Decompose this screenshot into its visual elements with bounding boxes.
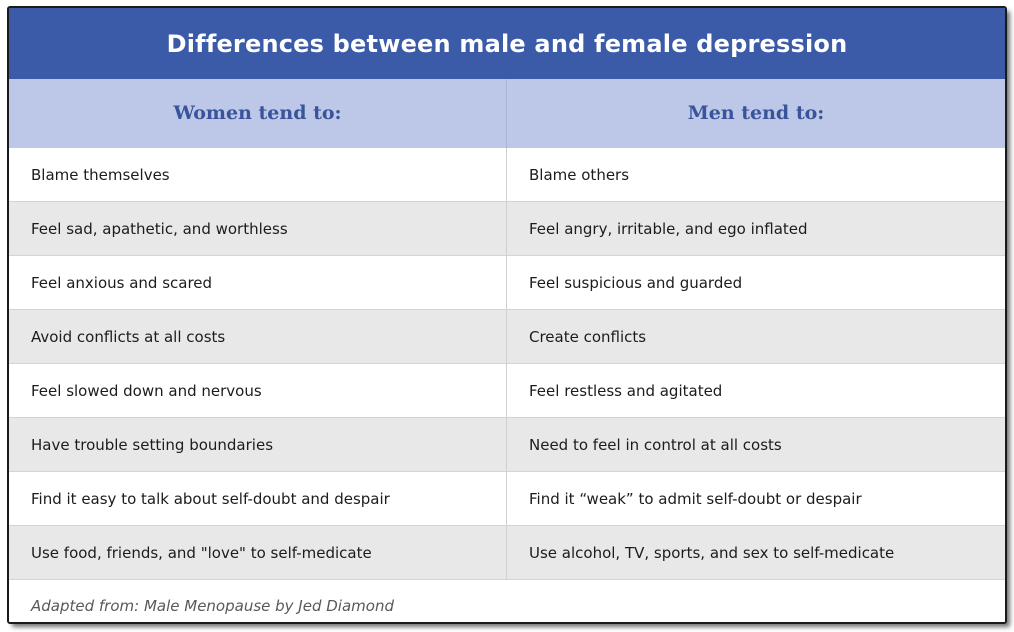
table-row: Find it easy to talk about self-doubt an… bbox=[9, 472, 1005, 526]
cell-women: Feel slowed down and nervous bbox=[9, 364, 507, 417]
cell-women-text: Feel anxious and scared bbox=[31, 274, 212, 292]
cell-women: Feel sad, apathetic, and worthless bbox=[9, 202, 507, 255]
attribution-row: Adapted from: Male Menopause by Jed Diam… bbox=[9, 580, 1005, 624]
cell-men-text: Feel angry, irritable, and ego inflated bbox=[529, 220, 808, 238]
table-title-bar: Differences between male and female depr… bbox=[9, 8, 1005, 79]
column-header-row: Women tend to: Men tend to: bbox=[9, 79, 1005, 148]
table-row: Feel sad, apathetic, and worthless Feel … bbox=[9, 202, 1005, 256]
cell-men-text: Need to feel in control at all costs bbox=[529, 436, 782, 454]
cell-women-text: Avoid conflicts at all costs bbox=[31, 328, 225, 346]
cell-men: Feel restless and agitated bbox=[507, 364, 1005, 417]
column-header-men-label: Men tend to: bbox=[688, 104, 825, 123]
column-header-women-label: Women tend to: bbox=[173, 104, 341, 123]
cell-men: Use alcohol, TV, sports, and sex to self… bbox=[507, 526, 1005, 579]
cell-men: Feel suspicious and guarded bbox=[507, 256, 1005, 309]
column-header-women: Women tend to: bbox=[9, 79, 507, 148]
cell-men-text: Create conflicts bbox=[529, 328, 646, 346]
page-title: Differences between male and female depr… bbox=[167, 32, 848, 56]
cell-men-text: Feel suspicious and guarded bbox=[529, 274, 742, 292]
comparison-table-card: Differences between male and female depr… bbox=[7, 6, 1007, 624]
table-row: Feel anxious and scared Feel suspicious … bbox=[9, 256, 1005, 310]
cell-women-text: Find it easy to talk about self-doubt an… bbox=[31, 490, 390, 508]
cell-women: Find it easy to talk about self-doubt an… bbox=[9, 472, 507, 525]
table-row: Have trouble setting boundaries Need to … bbox=[9, 418, 1005, 472]
cell-men-text: Feel restless and agitated bbox=[529, 382, 722, 400]
table-row: Use food, friends, and "love" to self-me… bbox=[9, 526, 1005, 580]
cell-women-text: Feel sad, apathetic, and worthless bbox=[31, 220, 288, 238]
cell-women: Feel anxious and scared bbox=[9, 256, 507, 309]
table-row: Blame themselves Blame others bbox=[9, 148, 1005, 202]
cell-men: Create conflicts bbox=[507, 310, 1005, 363]
table-row: Feel slowed down and nervous Feel restle… bbox=[9, 364, 1005, 418]
cell-men: Need to feel in control at all costs bbox=[507, 418, 1005, 471]
cell-women-text: Have trouble setting boundaries bbox=[31, 436, 273, 454]
screenshot-canvas: Differences between male and female depr… bbox=[0, 0, 1014, 632]
cell-men-text: Blame others bbox=[529, 166, 629, 184]
table-body: Blame themselves Blame others Feel sad, … bbox=[9, 148, 1005, 580]
cell-men-text: Use alcohol, TV, sports, and sex to self… bbox=[529, 544, 894, 562]
column-header-men: Men tend to: bbox=[507, 79, 1005, 148]
cell-women-text: Blame themselves bbox=[31, 166, 170, 184]
attribution-text: Adapted from: Male Menopause by Jed Diam… bbox=[31, 597, 394, 615]
cell-men: Feel angry, irritable, and ego inflated bbox=[507, 202, 1005, 255]
cell-men: Find it “weak” to admit self-doubt or de… bbox=[507, 472, 1005, 525]
cell-women-text: Use food, friends, and "love" to self-me… bbox=[31, 544, 372, 562]
cell-women-text: Feel slowed down and nervous bbox=[31, 382, 262, 400]
table-row: Avoid conflicts at all costs Create conf… bbox=[9, 310, 1005, 364]
cell-men: Blame others bbox=[507, 148, 1005, 201]
cell-men-text: Find it “weak” to admit self-doubt or de… bbox=[529, 490, 862, 508]
cell-women: Blame themselves bbox=[9, 148, 507, 201]
cell-women: Avoid conflicts at all costs bbox=[9, 310, 507, 363]
cell-women: Have trouble setting boundaries bbox=[9, 418, 507, 471]
cell-women: Use food, friends, and "love" to self-me… bbox=[9, 526, 507, 579]
